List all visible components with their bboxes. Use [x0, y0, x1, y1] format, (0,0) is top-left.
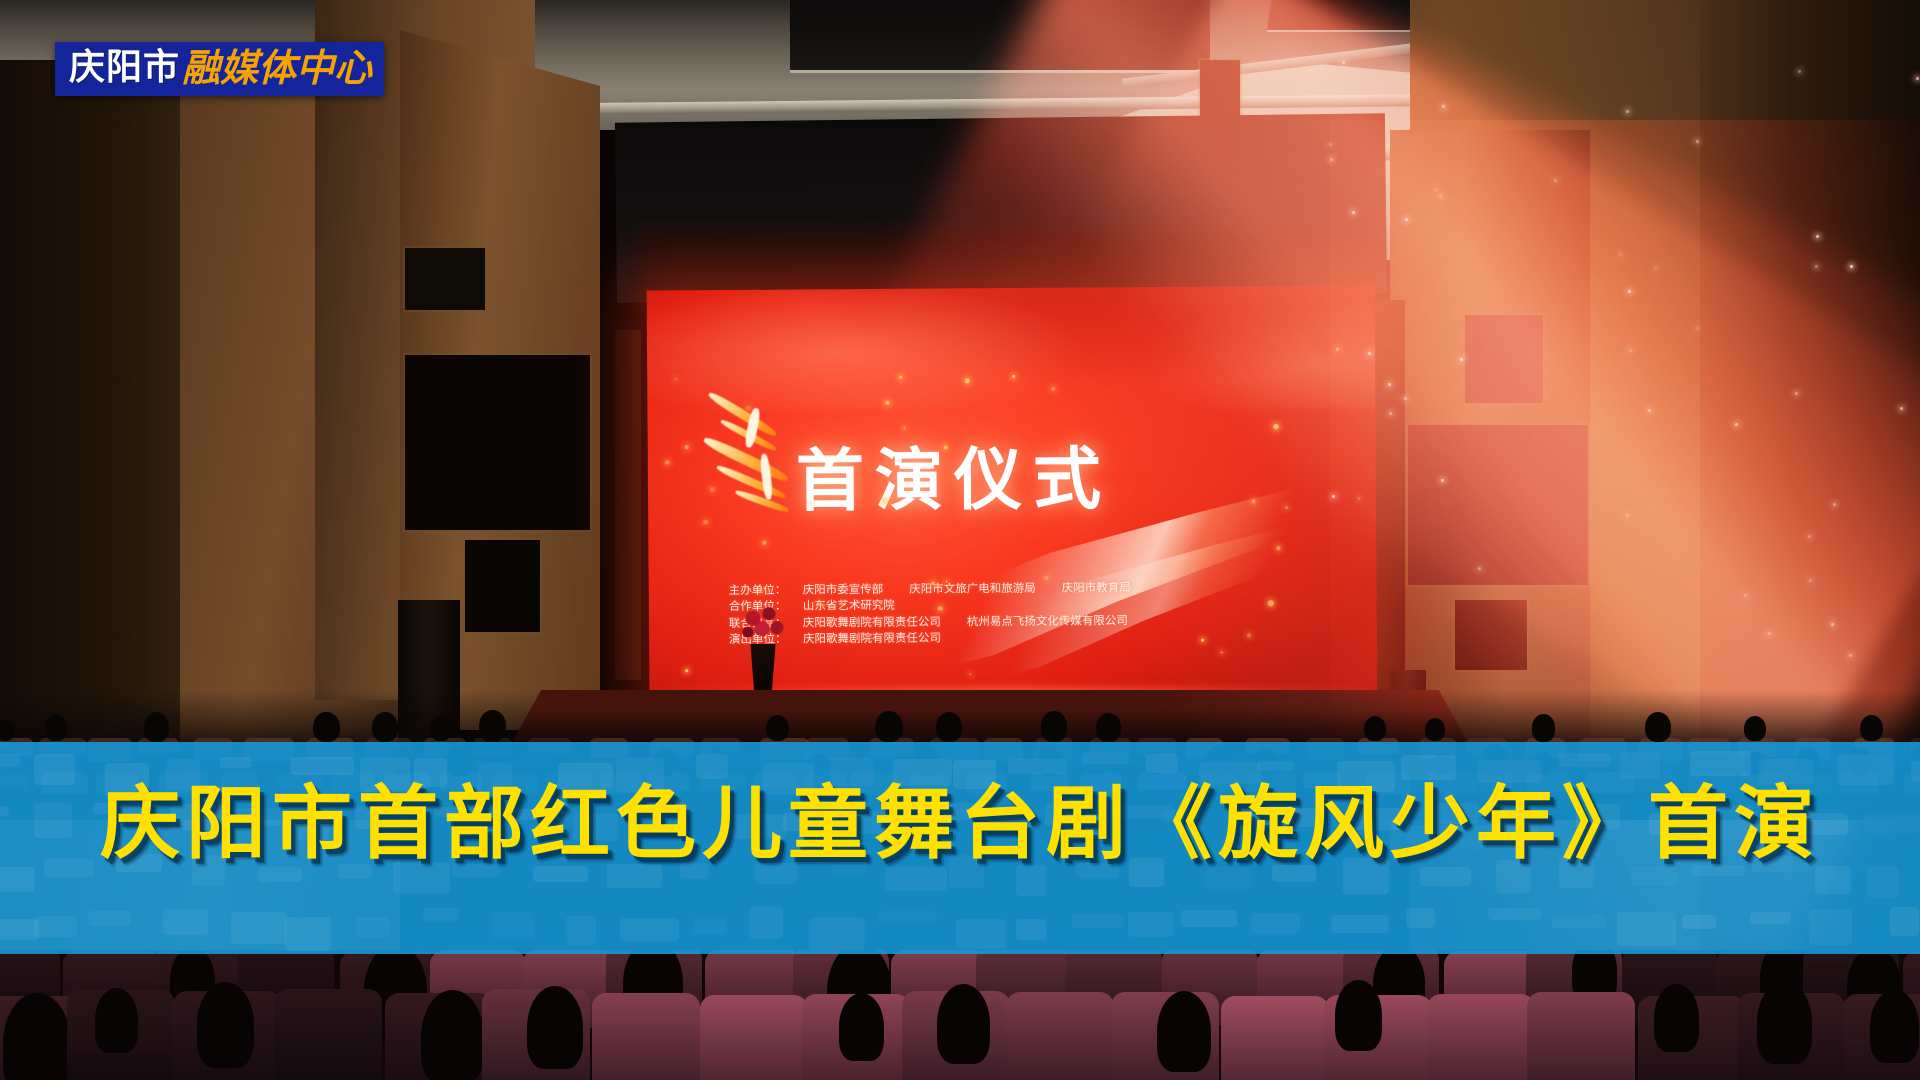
banner-seat-ghost: [285, 917, 331, 951]
banner-seat-ghost: [1867, 866, 1898, 898]
audience-head: [1757, 981, 1812, 1064]
logo-city-text: 庆阳市: [69, 50, 180, 86]
audience-head: [45, 715, 68, 741]
banner-seat-ghost: [163, 909, 208, 935]
banner-seat-ghost: [1251, 913, 1300, 934]
ceiling-recess-center: [790, 0, 1210, 73]
audience-head: [936, 712, 962, 742]
wall-panel: [1465, 315, 1543, 403]
banner-seat-ghost: [749, 907, 783, 939]
audience-head: [527, 986, 583, 1069]
banner-seat-ghost: [885, 867, 948, 891]
theater-seat: [1221, 996, 1329, 1080]
audience-head: [766, 715, 789, 742]
stage-speaker: [615, 330, 641, 680]
banner-seat-ghost: [34, 754, 75, 785]
audience-head: [1645, 712, 1671, 742]
banner-seat-ghost: [1682, 915, 1717, 929]
banner-seat-ghost: [1488, 908, 1543, 919]
theater-seat: [700, 995, 808, 1080]
banner-seat-ghost: [1257, 761, 1293, 771]
audience-head: [1364, 716, 1386, 742]
banner-seat-ghost: [1181, 910, 1237, 926]
banner-seat-ghost: [1128, 912, 1173, 936]
audience-head: [197, 982, 254, 1068]
led-screen-credits: 主办单位：庆阳市委宣传部庆阳市文旅广电和旅游局庆阳市教育局 合作单位：山东省艺术…: [729, 579, 1157, 647]
audience-head: [0, 720, 14, 741]
theater-seat: [274, 989, 382, 1080]
banner-seat-ghost: [0, 753, 20, 766]
banner-seat-ghost: [1406, 908, 1435, 928]
banner-seat-ghost: [693, 916, 726, 934]
lower-third-banner: 庆阳市首部红色儿童舞台剧《旋风少年》首演: [0, 742, 1920, 954]
banner-seat-ghost: [1016, 919, 1046, 940]
theater-seat: [1527, 992, 1635, 1080]
banner-seat-ghost: [1558, 753, 1611, 768]
banner-seat-ghost: [231, 912, 286, 944]
audience-head: [937, 984, 990, 1064]
credit-value: 山东省艺术研究院: [803, 598, 895, 613]
banner-seat-ghost: [1551, 915, 1607, 928]
credit-row: 联合出品：庆阳歌舞剧院有限责任公司杭州易点飞扬文化传媒有限公司: [729, 612, 1157, 631]
theater-seat: [592, 993, 700, 1080]
banner-seat-ghost: [1911, 761, 1920, 782]
credit-value: 庆阳市教育局: [1062, 580, 1131, 594]
audience-head: [1532, 714, 1556, 741]
stage-flower-pot: [738, 600, 788, 690]
flower-blooms: [738, 600, 788, 646]
audience-head: [1870, 990, 1919, 1063]
wall-panel: [465, 540, 540, 632]
banner-seat-ghost: [696, 754, 728, 779]
credit-value: 庆阳市委宣传部: [803, 582, 884, 597]
banner-seat-ghost: [492, 913, 534, 939]
banner-seat-ghost: [291, 757, 354, 775]
banner-seat-ghost: [1617, 912, 1677, 947]
audience-head: [479, 710, 507, 742]
led-screen-title: 首演仪式: [796, 423, 1113, 524]
audience-head: [95, 988, 138, 1053]
wall-panel: [1455, 600, 1527, 670]
banner-seat-ghost: [1690, 751, 1751, 776]
audience-head: [421, 990, 484, 1080]
audience-head: [1654, 984, 1699, 1051]
audience-head: [430, 716, 452, 741]
theater-seat: [1427, 994, 1535, 1080]
banner-seat-ghost: [356, 917, 391, 936]
logo-unit-text: 融媒体中心: [182, 49, 372, 87]
wall-panel: [1408, 425, 1588, 585]
audience-head: [1425, 718, 1445, 741]
banner-seat-ghost: [956, 919, 1006, 949]
audience-head: [1744, 716, 1766, 741]
credit-value: 庆阳歌舞剧院有限责任公司: [803, 614, 941, 629]
credit-row: 演出单位：庆阳歌舞剧院有限责任公司: [729, 628, 1157, 647]
channel-logo-bug: 庆阳市 融媒体中心: [55, 42, 384, 96]
wall-panel: [405, 355, 590, 530]
credit-label: 主办单位：: [729, 581, 803, 598]
wall-panel: [405, 248, 485, 310]
banner-seat-ghost: [1331, 915, 1389, 933]
banner-seat-ghost: [566, 916, 596, 945]
led-background-texture: [647, 285, 1378, 413]
banner-seat-ghost: [1890, 907, 1919, 936]
audience-head: [313, 712, 339, 742]
credit-value: 杭州易点飞扬文化传媒有限公司: [967, 613, 1128, 628]
banner-seat-ghost: [1205, 867, 1251, 890]
audience-head: [875, 711, 902, 743]
audience-head: [1860, 715, 1883, 741]
banner-seat-ghost: [1837, 755, 1895, 784]
theater-seat: [1006, 992, 1114, 1080]
banner-seat-ghost: [34, 916, 77, 937]
audience-head: [3, 993, 71, 1080]
banner-seat-ghost: [220, 757, 251, 768]
banner-seat-ghost: [1072, 914, 1124, 927]
foreground-seat-rows: [0, 950, 1920, 1080]
banner-seat-ghost: [1008, 759, 1067, 774]
audience-head: [1096, 713, 1121, 742]
banner-seat-ghost: [1809, 909, 1852, 945]
credit-value: 庆阳市文旅广电和旅游局: [909, 581, 1036, 596]
lower-third-headline: 庆阳市首部红色儿童舞台剧《旋风少年》首演: [0, 782, 1920, 866]
audience-head: [839, 993, 884, 1061]
banner-seat-ghost: [1082, 752, 1130, 765]
banner-seat-ghost: [423, 908, 458, 922]
banner-seat-ghost: [1146, 754, 1178, 773]
audience-head: [372, 712, 398, 742]
audience-head: [1041, 711, 1068, 742]
audience-head: [1157, 991, 1212, 1073]
banner-seat-ghost: [877, 911, 937, 924]
banner-seat-ghost: [620, 918, 679, 940]
banner-seat-ghost: [0, 867, 35, 892]
flower-pot-base: [748, 644, 778, 690]
audience-head: [1335, 980, 1382, 1051]
stage-speaker: [1375, 300, 1405, 700]
audience-head: [144, 712, 170, 742]
banner-seat-ghost: [1815, 866, 1851, 894]
screenshot-root: 首演仪式 主办单位：庆阳市委宣传部庆阳市文旅广电和旅游局庆阳市教育局 合作单位：…: [0, 0, 1920, 1080]
credit-value: 庆阳歌舞剧院有限责任公司: [803, 630, 941, 645]
banner-seat-ghost: [1620, 752, 1660, 779]
banner-seat-ghost: [809, 917, 865, 950]
banner-seat-ghost: [1750, 912, 1792, 924]
credit-row: 主办单位：庆阳市委宣传部庆阳市文旅广电和旅游局庆阳市教育局: [729, 579, 1157, 598]
banner-seat-ghost: [0, 919, 39, 940]
banner-seat-ghost: [88, 911, 132, 926]
